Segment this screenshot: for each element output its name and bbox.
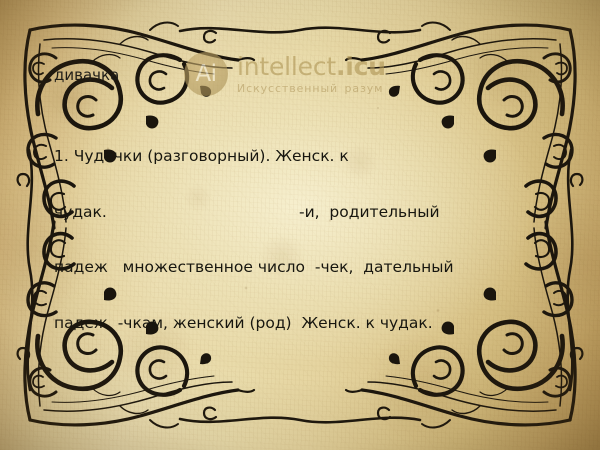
parchment-card: Ai intellect.icu Искусственный разум див… — [0, 0, 600, 450]
edge-vignette — [0, 0, 600, 450]
